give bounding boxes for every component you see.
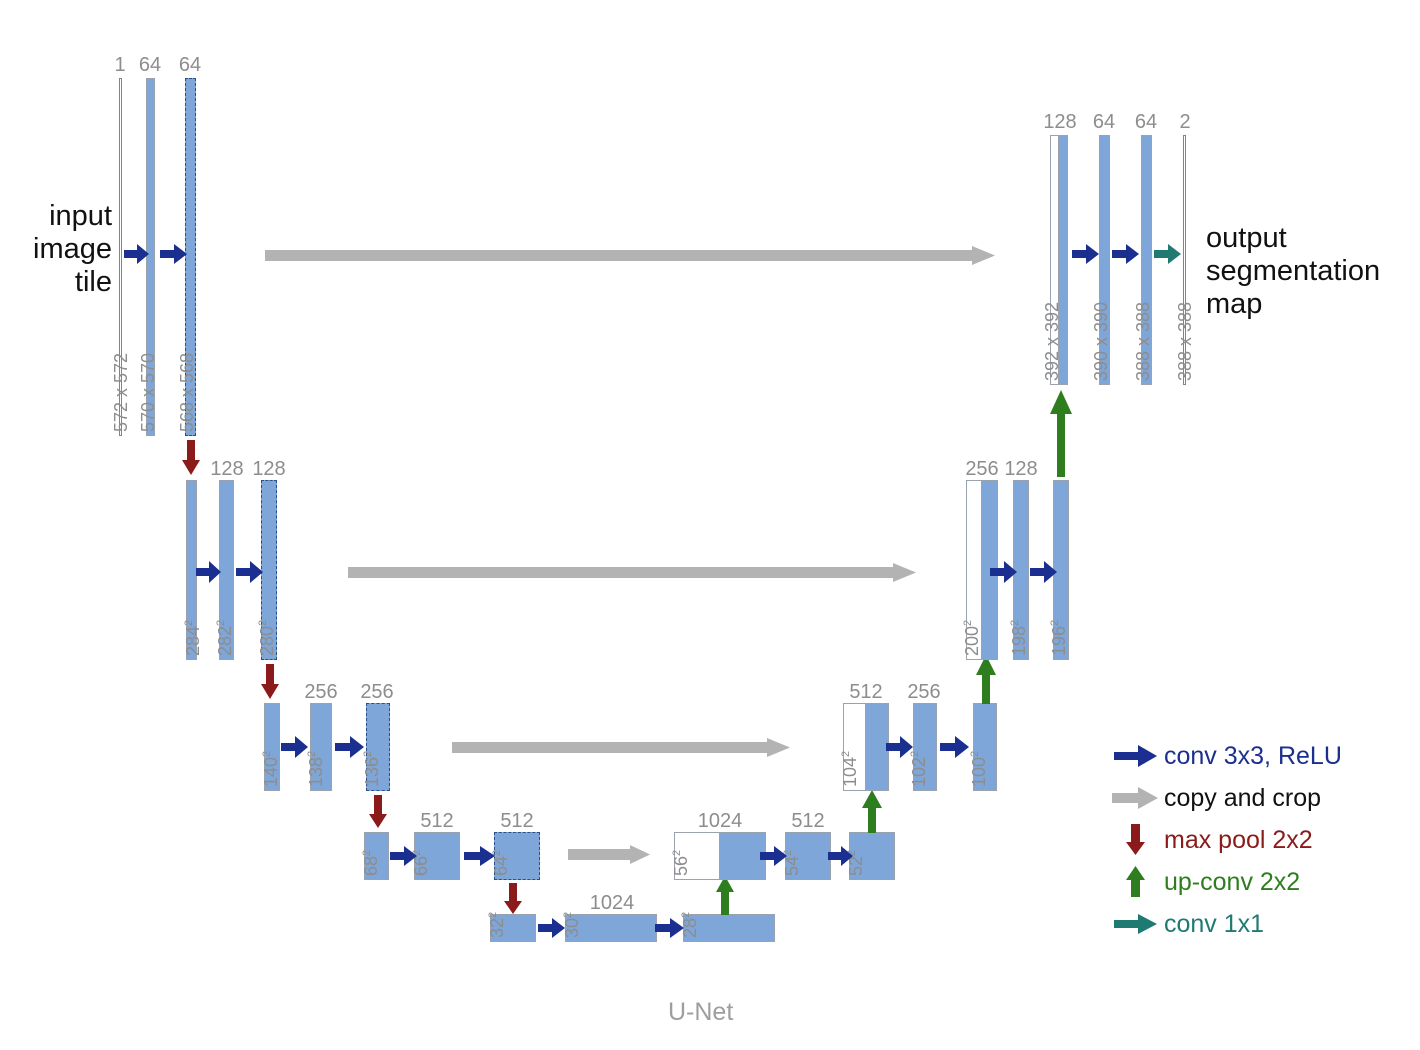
up-arrow-icon — [1108, 866, 1164, 898]
legend-item-maxpool: max pool 2x2 — [1108, 819, 1342, 861]
legend-label-maxpool: max pool 2x2 — [1164, 827, 1313, 853]
maxpool-arrow-level1 — [181, 440, 201, 476]
conv-arrow-dec2-b — [1030, 560, 1058, 584]
channel-label-enc2-1: 128 — [241, 459, 297, 479]
size-label-bottleneck-0: 322 — [484, 912, 506, 938]
upconv-arrow-level4 — [715, 876, 735, 916]
legend-label-upconv: up-conv 2x2 — [1164, 869, 1300, 895]
legend-item-upconv: up-conv 2x2 — [1108, 861, 1342, 903]
size-label-dec2-0: 2002 — [959, 620, 981, 656]
conv-arrow-enc3-a — [281, 735, 309, 759]
legend-item-conv1x1: conv 1x1 — [1108, 903, 1342, 945]
channel-label-enc1-1: 64 — [130, 55, 170, 75]
size-label-enc1-2: 568 x 568 — [178, 353, 196, 432]
size-label-dec3-0: 1042 — [837, 751, 859, 787]
right-arrow-icon — [1108, 744, 1164, 768]
conv-arrow-enc4-a — [390, 845, 418, 867]
channel-label-dec1-1: 64 — [1084, 112, 1124, 132]
legend-item-conv3x3: conv 3x3, ReLU — [1108, 735, 1342, 777]
maxpool-arrow-level3 — [368, 795, 388, 829]
channel-label-dec3-1: 256 — [893, 682, 955, 702]
size-label-dec2-1: 1982 — [1006, 620, 1028, 656]
conv-arrow-enc2-b — [236, 560, 264, 584]
unet-architecture-diagram: 1 572 x 572 64 570 x 570 64 568 x 568 in… — [0, 0, 1420, 1050]
channel-label-enc3-0: 256 — [290, 682, 352, 702]
conv-arrow-bottleneck-b — [655, 917, 685, 939]
output-segmentation-map-label: output segmentation map — [1206, 222, 1380, 321]
legend-label-copy-crop: copy and crop — [1164, 785, 1321, 811]
conv-arrow-dec4-b — [828, 845, 854, 867]
input-image-tile-label: input image tile — [32, 200, 112, 299]
conv-arrow-enc1-b — [160, 243, 188, 265]
down-arrow-icon — [1108, 824, 1164, 856]
conv-arrow-dec2-a — [990, 560, 1018, 584]
conv-arrow-dec1-a — [1072, 243, 1100, 265]
conv1x1-arrow-output — [1154, 243, 1182, 265]
upconv-arrow-level2 — [975, 655, 997, 705]
right-arrow-icon — [1108, 913, 1164, 935]
channel-label-dec2-1: 128 — [993, 459, 1049, 479]
size-label-enc3-0: 1402 — [258, 751, 280, 787]
copy-crop-arrow-level2 — [348, 563, 916, 583]
size-label-enc2-1: 2822 — [212, 620, 234, 656]
conv-arrow-dec3-b — [940, 735, 970, 759]
conv-arrow-dec3-a — [886, 735, 914, 759]
legend-label-conv3x3: conv 3x3, ReLU — [1164, 743, 1342, 769]
channel-label-dec3-0: 512 — [838, 682, 894, 702]
size-label-enc2-0: 2842 — [180, 620, 202, 656]
size-label-enc4-0: 682 — [358, 850, 380, 876]
conv-arrow-dec1-b — [1112, 243, 1140, 265]
conv-arrow-enc3-b — [335, 735, 365, 759]
legend: conv 3x3, ReLU copy and crop max pool 2x… — [1108, 735, 1342, 945]
channel-label-bottleneck-0: 1024 — [574, 893, 650, 913]
size-label-dec1-2: 388 x 388 — [1134, 302, 1152, 381]
channel-label-dec1-3: 2 — [1165, 112, 1205, 132]
channel-label-enc4-0: 512 — [409, 811, 465, 831]
size-label-enc1-1: 570 x 570 — [139, 353, 157, 432]
conv-arrow-bottleneck-a — [538, 917, 566, 939]
channel-label-dec1-2: 64 — [1126, 112, 1166, 132]
channel-label-dec1-0: 128 — [1034, 112, 1086, 132]
upconv-arrow-level1 — [1049, 390, 1073, 478]
size-label-dec1-1: 390 x 390 — [1092, 302, 1110, 381]
upconv-arrow-level3 — [861, 790, 883, 834]
conv-arrow-dec4-a — [760, 845, 788, 867]
copy-crop-arrow-level4 — [568, 845, 650, 865]
size-label-dec1-3: 388 x 388 — [1176, 302, 1194, 381]
channel-label-enc4-1: 512 — [489, 811, 545, 831]
conv-arrow-enc1-a — [124, 243, 150, 265]
conv-arrow-enc4-b — [464, 845, 496, 867]
size-label-dec1-0: 392 x 392 — [1043, 302, 1061, 381]
copy-crop-arrow-level3 — [452, 738, 790, 758]
copy-crop-arrow-level1 — [265, 246, 995, 266]
right-arrow-icon — [1108, 786, 1164, 810]
channel-label-dec4-0: 1024 — [682, 811, 758, 831]
size-label-dec4-0: 562 — [668, 850, 690, 876]
legend-label-conv1x1: conv 1x1 — [1164, 911, 1264, 937]
channel-label-enc1-2: 64 — [170, 55, 210, 75]
maxpool-arrow-level2 — [260, 664, 280, 700]
conv-arrow-enc2-a — [196, 560, 222, 584]
size-label-enc2-2: 2802 — [254, 620, 276, 656]
watermark-label: U-Net — [668, 998, 733, 1027]
legend-item-copy-crop: copy and crop — [1108, 777, 1342, 819]
size-label-enc1-0: 572 x 572 — [112, 353, 130, 432]
channel-label-enc3-1: 256 — [346, 682, 408, 702]
maxpool-arrow-level4 — [503, 883, 523, 915]
channel-label-dec4-1: 512 — [780, 811, 836, 831]
size-label-dec2-2: 1962 — [1046, 620, 1068, 656]
